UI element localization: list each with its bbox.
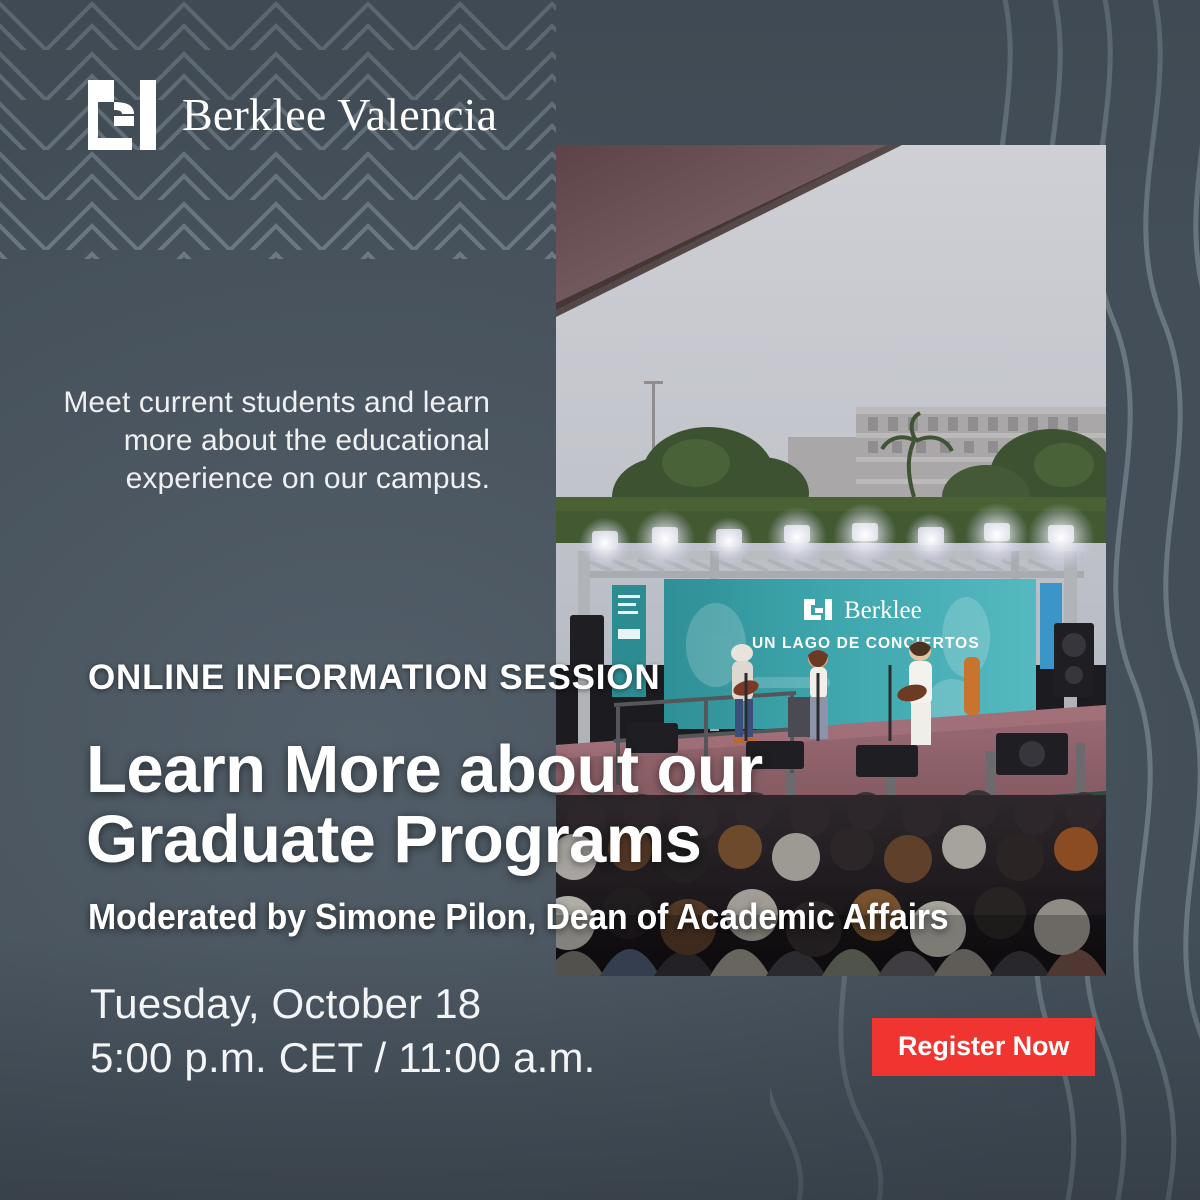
page-title: Learn More about our Graduate Programs xyxy=(86,735,806,874)
eyebrow-label: ONLINE INFORMATION SESSION xyxy=(88,660,660,695)
berklee-b-mark-icon xyxy=(88,80,156,150)
brand-wordmark: Berklee Valencia xyxy=(182,92,497,138)
event-datetime: Tuesday, October 18 5:00 p.m. CET / 11:0… xyxy=(90,977,596,1085)
event-date: Tuesday, October 18 xyxy=(90,977,596,1031)
headline-line-1: Learn More about our xyxy=(86,732,763,807)
moderator-line: Moderated by Simone Pilon, Dean of Acade… xyxy=(88,897,948,937)
intro-paragraph: Meet current students and learn more abo… xyxy=(60,384,490,498)
brand-logo: Berklee Valencia xyxy=(88,80,497,150)
svg-text:Berklee: Berklee xyxy=(844,597,922,624)
register-now-button[interactable]: Register Now xyxy=(872,1018,1095,1076)
headline-line-2: Graduate Programs xyxy=(86,805,806,875)
promo-poster: Berklee Valencia xyxy=(0,0,1200,1200)
svg-text:UN LAGO DE CONCIERTOS: UN LAGO DE CONCIERTOS xyxy=(752,635,980,652)
event-time: 5:00 p.m. CET / 11:00 a.m. xyxy=(90,1031,596,1085)
